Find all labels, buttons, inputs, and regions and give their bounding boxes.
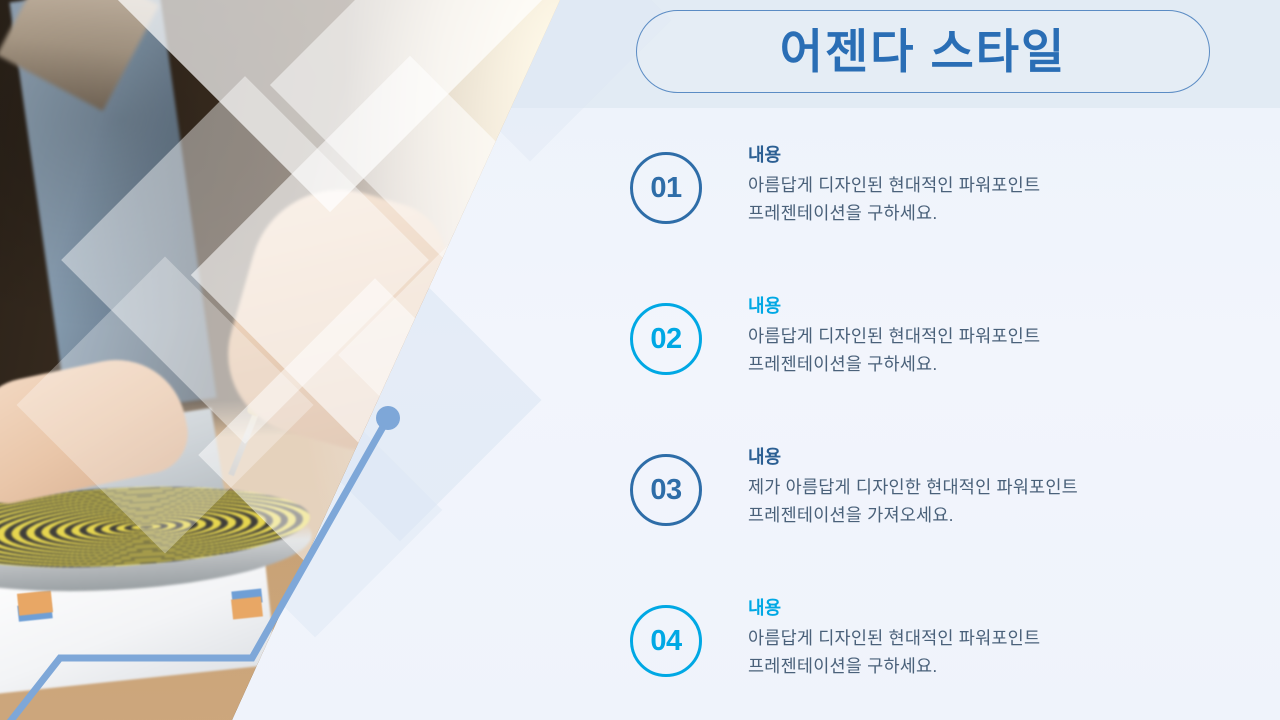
agenda-list: 01 내용 아름답게 디자인된 현대적인 파워포인트 프레젠테이션을 구하세요.… [630,135,1230,720]
agenda-item-text: 내용 제가 아름답게 디자인한 현대적인 파워포인트 프레젠테이션을 가져오세요… [748,437,1078,529]
agenda-item-heading: 내용 [748,144,1040,167]
agenda-item-body: 아름답게 디자인된 현대적인 파워포인트 프레젠테이션을 구하세요. [748,625,1040,679]
number-badge-02: 02 [630,303,702,375]
agenda-item-body: 아름답게 디자인된 현대적인 파워포인트 프레젠테이션을 구하세요. [748,172,1040,226]
agenda-item-heading: 내용 [748,597,1040,620]
agenda-item-heading: 내용 [748,295,1040,318]
agenda-item-02[interactable]: 02 내용 아름답게 디자인된 현대적인 파워포인트 프레젠테이션을 구하세요. [630,286,1230,437]
agenda-item-text: 내용 아름답게 디자인된 현대적인 파워포인트 프레젠테이션을 구하세요. [748,286,1040,378]
number-badge-01: 01 [630,152,702,224]
number-label: 02 [650,325,681,354]
number-label: 01 [650,174,681,203]
page-title: 어젠다 스타일 [780,28,1067,75]
agenda-item-text: 내용 아름답게 디자인된 현대적인 파워포인트 프레젠테이션을 구하세요. [748,135,1040,227]
number-badge-03: 03 [630,454,702,526]
number-label: 04 [650,627,681,656]
agenda-item-body: 아름답게 디자인된 현대적인 파워포인트 프레젠테이션을 구하세요. [748,323,1040,377]
slide-canvas: 어젠다 스타일 01 내용 아름답게 디자인된 현대적인 파워포인트 프레젠테이… [0,0,1280,720]
title-pill: 어젠다 스타일 [636,10,1210,93]
agenda-item-text: 내용 아름답게 디자인된 현대적인 파워포인트 프레젠테이션을 구하세요. [748,588,1040,680]
agenda-item-heading: 내용 [748,446,1078,469]
agenda-item-01[interactable]: 01 내용 아름답게 디자인된 현대적인 파워포인트 프레젠테이션을 구하세요. [630,135,1230,286]
agenda-item-body: 제가 아름답게 디자인한 현대적인 파워포인트 프레젠테이션을 가져오세요. [748,474,1078,528]
number-badge-04: 04 [630,605,702,677]
agenda-item-04[interactable]: 04 내용 아름답게 디자인된 현대적인 파워포인트 프레젠테이션을 구하세요. [630,588,1230,720]
accent-dot [376,406,400,430]
agenda-item-03[interactable]: 03 내용 제가 아름답게 디자인한 현대적인 파워포인트 프레젠테이션을 가져… [630,437,1230,588]
accent-polyline [0,0,640,720]
number-label: 03 [650,476,681,505]
